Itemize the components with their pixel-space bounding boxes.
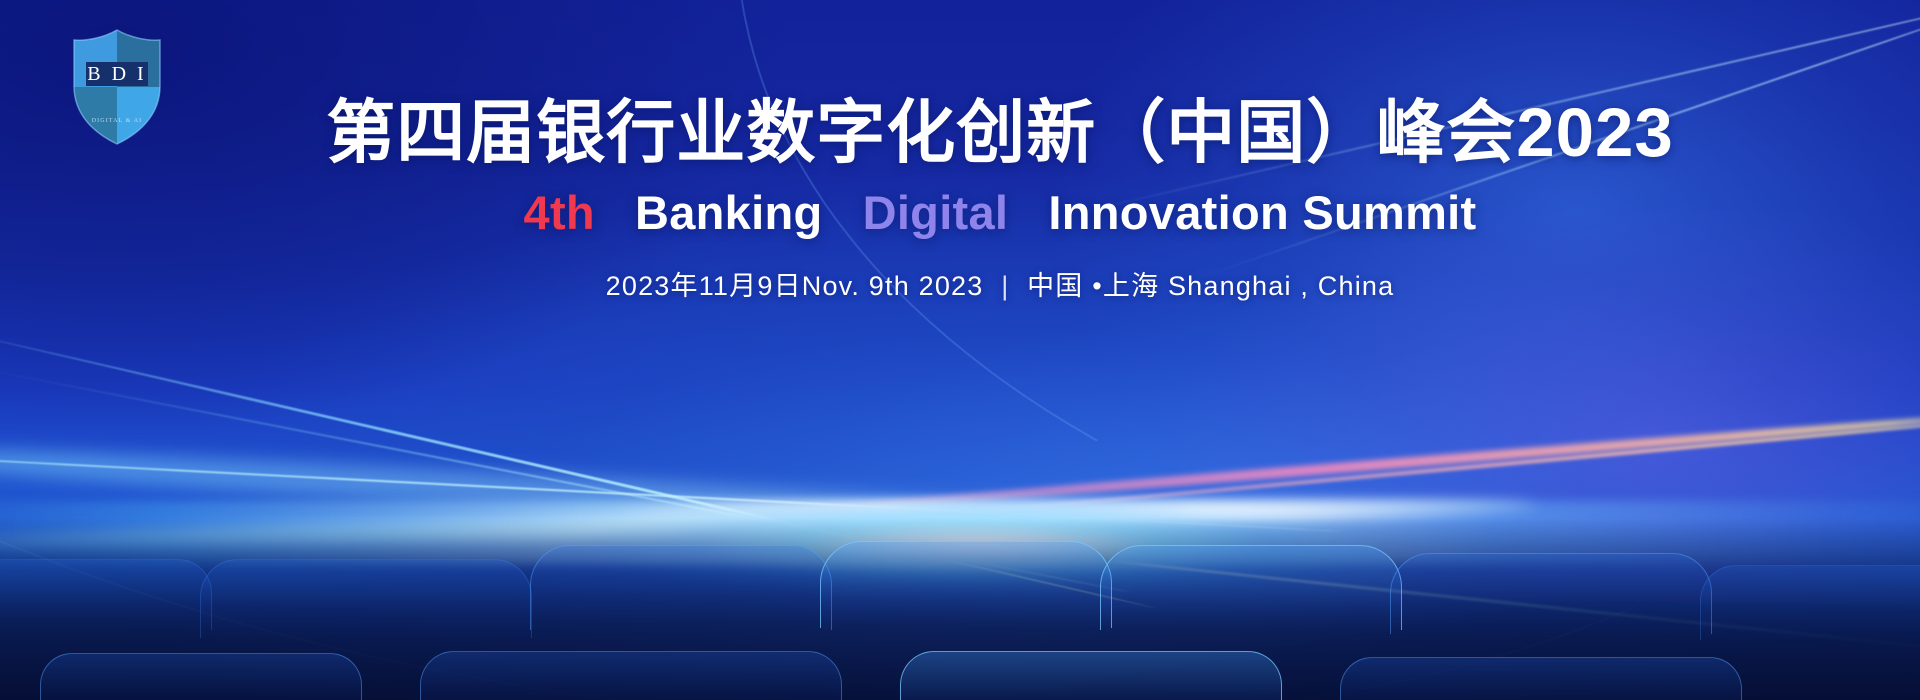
title-en-part-4th: 4th: [524, 186, 595, 239]
event-date: 2023年11月9日Nov. 9th 2023: [606, 271, 984, 301]
svg-text:B D I: B D I: [87, 63, 146, 85]
page-title-chinese: 第四届银行业数字化创新（中国）峰会2023: [0, 96, 1920, 171]
conference-banner: B D I DIGITAL & AI 第四届银行业数字化创新（中国）峰会2023…: [0, 0, 1920, 700]
event-meta-line: 2023年11月9日Nov. 9th 2023 | 中国 •上海 Shangha…: [0, 264, 1920, 303]
event-location: 中国 •上海 Shanghai , China: [1027, 271, 1394, 301]
title-block: 第四届银行业数字化创新（中国）峰会2023 4th Banking Digita…: [0, 96, 1920, 303]
meta-separator: |: [1001, 271, 1009, 302]
page-title-english: 4th Banking Digital Innovation Summit: [0, 185, 1920, 240]
title-en-part-innovation-summit: Innovation Summit: [1048, 186, 1476, 239]
title-en-part-banking: Banking: [635, 186, 823, 239]
title-en-part-digital: Digital: [863, 186, 1009, 239]
